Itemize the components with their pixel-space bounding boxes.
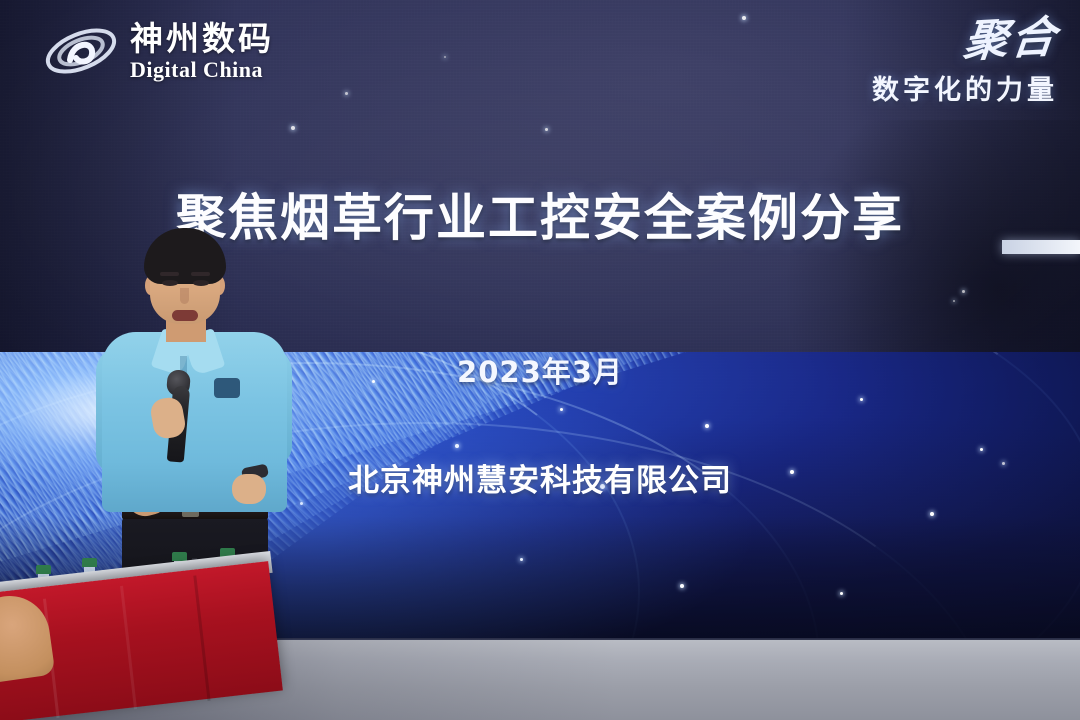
speaker-eyebrow-left xyxy=(160,272,179,276)
speaker-eye-right xyxy=(193,280,209,286)
speaker-chest-logo-icon xyxy=(214,378,240,398)
particle-dot xyxy=(980,448,983,451)
particle-dot xyxy=(560,408,563,411)
particle-dot xyxy=(860,398,863,401)
particle-dot xyxy=(520,558,523,561)
event-logo: 聚合 数字化的力量 xyxy=(872,18,1058,107)
speaker-eyebrow-right xyxy=(191,272,210,276)
particle-dot xyxy=(953,300,955,302)
particle-dot xyxy=(300,502,303,505)
event-subtitle: 数字化的力量 xyxy=(872,68,1058,107)
particle-dot xyxy=(455,444,459,448)
event-calligraphy: 聚合 xyxy=(961,16,1060,65)
particle-dot xyxy=(545,128,548,131)
cloth-fold xyxy=(120,586,137,710)
particle-dot xyxy=(345,92,348,95)
speaker-eye-left xyxy=(162,280,178,286)
brand-name-en: Digital China xyxy=(130,59,274,81)
particle-dot xyxy=(705,424,709,428)
digital-china-swirl-icon xyxy=(42,18,120,84)
particle-dot xyxy=(930,512,934,516)
particle-dot xyxy=(962,290,965,293)
particle-dot xyxy=(680,584,684,588)
speaker-hand-right xyxy=(232,474,266,504)
speaker-mouth xyxy=(172,310,198,321)
particle-dot xyxy=(742,16,746,20)
brand-name-cn: 神州数码 xyxy=(130,22,274,55)
particle-dot xyxy=(840,592,843,595)
cloth-fold xyxy=(193,575,210,701)
particle-dot xyxy=(444,56,446,58)
presentation-photo-scene: 神州数码 Digital China 聚合 数字化的力量 聚焦烟草行业工控安全案… xyxy=(0,0,1080,720)
speaker-hair xyxy=(144,228,226,284)
particle-dot xyxy=(291,126,295,130)
speaker-nose xyxy=(180,288,189,304)
digital-china-logo: 神州数码 Digital China xyxy=(42,18,274,84)
brand-text: 神州数码 Digital China xyxy=(130,22,274,81)
